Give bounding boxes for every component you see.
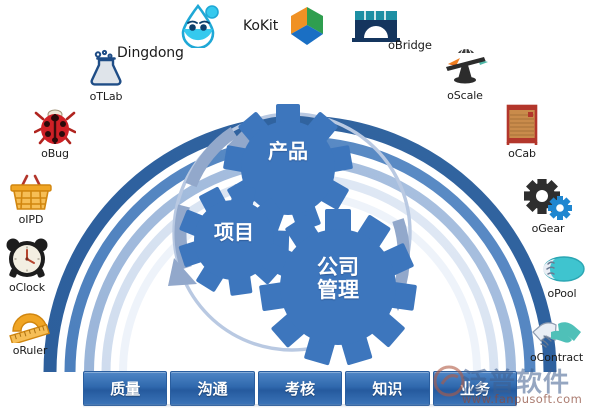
product-obug[interactable]: oBug <box>34 108 76 160</box>
arc-band-mid <box>70 142 530 372</box>
pool-hand-icon <box>538 252 586 286</box>
protractor-ruler-icon <box>7 303 53 343</box>
cycle-arrow-1 <box>191 132 234 185</box>
arc-band-outer <box>50 122 550 372</box>
cycle-arrow-2 <box>181 206 186 268</box>
product-ocab[interactable]: oCab <box>505 104 539 160</box>
cube-3d-icon <box>285 4 329 48</box>
cycle-arrows <box>181 132 404 292</box>
product-oclock[interactable]: oClock <box>4 236 50 294</box>
nav-tab-appraisal[interactable]: 考核 <box>258 371 342 406</box>
cycle-arrowhead-1 <box>227 118 255 152</box>
bottom-nav[interactable]: 质量 沟通 考核 知识 业务 <box>83 371 517 406</box>
alarm-clock-icon <box>4 236 50 280</box>
gear-product <box>223 104 353 232</box>
product-kokit[interactable]: KoKit <box>243 4 329 48</box>
cycle-ring <box>174 114 410 350</box>
nav-tab-quality[interactable]: 质量 <box>83 371 167 406</box>
gear-label-company-line1: 公司 <box>295 256 381 279</box>
gear-label-company-line2: 管理 <box>295 279 381 302</box>
balance-scale-icon <box>440 46 490 88</box>
cycle-arrow-heads <box>168 118 411 311</box>
arc-band-faint <box>106 178 494 372</box>
cabinet-icon <box>505 104 539 146</box>
gear-project <box>178 184 289 296</box>
product-oscale[interactable]: oScale <box>440 46 490 102</box>
double-gear-icon <box>524 179 572 221</box>
product-ocontract[interactable]: oContract <box>530 316 583 364</box>
gear-label-company: 公司 管理 <box>295 256 381 301</box>
nav-shadow <box>83 404 517 408</box>
shopping-basket-icon <box>9 174 53 212</box>
gear-label-project: 项目 <box>199 222 269 244</box>
product-oipd[interactable]: oIPD <box>9 174 53 226</box>
product-otlab[interactable]: oTLab <box>86 49 126 103</box>
arc-band-inner <box>89 161 511 372</box>
nav-tab-comm[interactable]: 沟通 <box>170 371 254 406</box>
flask-beaker-icon <box>86 49 126 89</box>
cycle-arrowhead-3 <box>386 285 411 311</box>
cycle-arrow-3 <box>398 220 404 292</box>
gear-label-product: 产品 <box>252 141 324 163</box>
water-drop-character-icon <box>178 4 220 48</box>
handshake-icon <box>531 316 583 350</box>
ladybug-icon <box>34 108 76 146</box>
product-obridge-caption: oBridge <box>388 37 432 52</box>
diagram-canvas: 产品 项目 公司 管理 Dingdong KoKit <box>0 0 600 413</box>
product-dingdong[interactable] <box>178 4 220 48</box>
arc-band-wash <box>123 195 477 372</box>
nav-tab-business[interactable]: 业务 <box>433 371 517 406</box>
product-oruler[interactable]: oRuler <box>7 303 53 357</box>
cycle-arrowhead-2 <box>168 258 197 286</box>
product-ogear[interactable]: oGear <box>524 179 572 235</box>
product-opool[interactable]: oPool <box>538 252 586 300</box>
product-dingdong-caption: Dingdong <box>117 44 184 61</box>
nav-tab-knowledge[interactable]: 知识 <box>345 371 429 406</box>
gear-company <box>259 209 417 366</box>
